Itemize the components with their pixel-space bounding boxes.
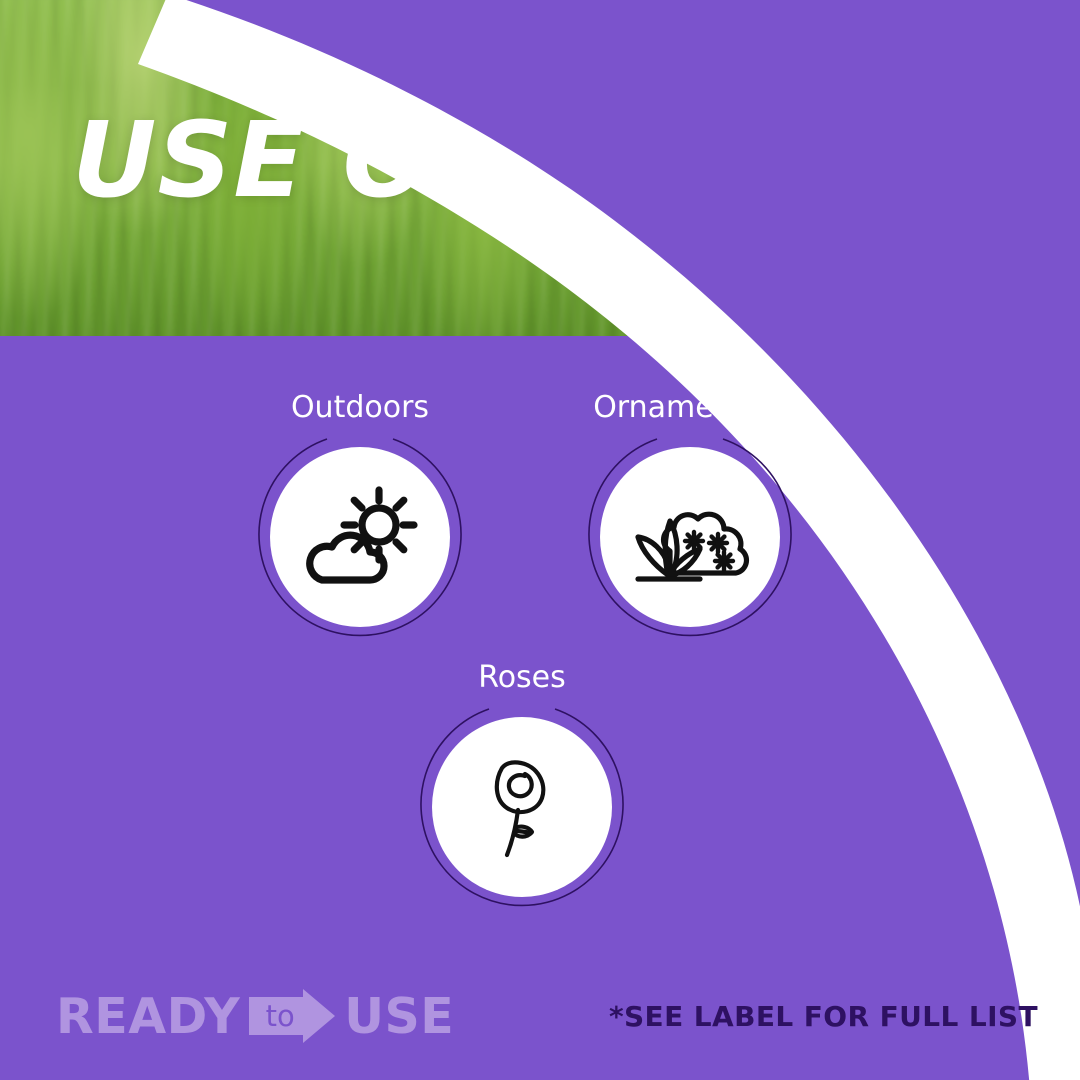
logo-word-ready: READY xyxy=(56,992,240,1041)
icon-badge xyxy=(415,700,629,914)
logo-word-use: USE xyxy=(344,992,454,1041)
see-label-footnote: *SEE LABEL FOR FULL LIST xyxy=(609,1000,1038,1033)
hero-header: USE ON xyxy=(0,0,1080,336)
use-on-item-label: Roses xyxy=(392,661,652,694)
sun-cloud-icon xyxy=(270,447,450,627)
ready-to-use-logo: READY to USE xyxy=(56,988,454,1044)
page-title: USE ON xyxy=(72,108,520,212)
use-on-item-label: Outdoors xyxy=(230,391,490,424)
use-on-item-label: Ornamentals xyxy=(560,391,820,424)
logo-arrow-label: to xyxy=(249,989,311,1043)
icon-badge xyxy=(583,430,797,644)
rose-icon xyxy=(432,717,612,897)
use-on-icon-grid: Outdoors xyxy=(0,336,1080,956)
use-on-item-outdoors[interactable]: Outdoors xyxy=(230,391,490,644)
poster-footer: READY to USE *SEE LABEL FOR FULL LIST xyxy=(0,956,1080,1080)
flowering-shrub-icon xyxy=(600,447,780,627)
use-on-poster: USE ON Outdoors xyxy=(0,0,1080,1080)
use-on-item-roses[interactable]: Roses xyxy=(392,661,652,914)
icon-badge xyxy=(253,430,467,644)
use-on-item-ornamentals[interactable]: Ornamentals xyxy=(560,391,820,644)
right-arrow-icon: to xyxy=(249,989,335,1043)
